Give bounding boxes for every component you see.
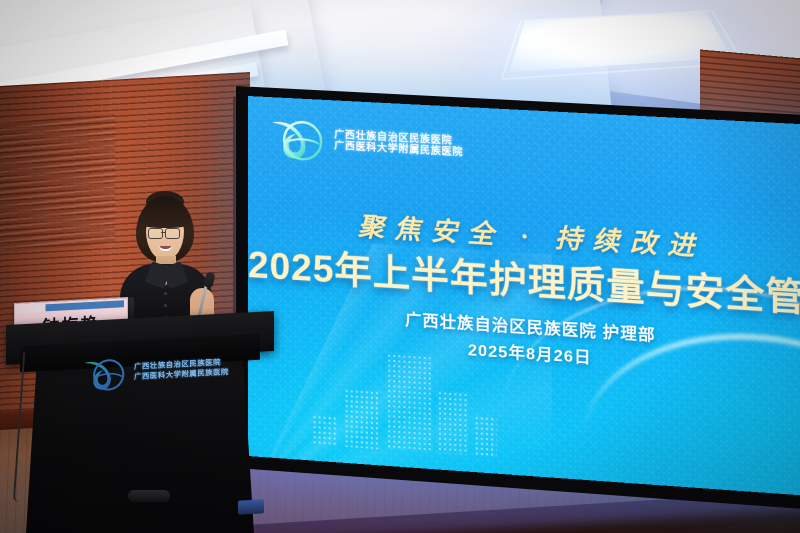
skyline-building bbox=[437, 391, 468, 456]
eyeglasses-bridge bbox=[161, 232, 166, 233]
skyline-building bbox=[344, 388, 378, 449]
podium-handle bbox=[128, 490, 170, 502]
led-screen[interactable]: 广西壮族自治区民族医院 广西医科大学附属民族医院 聚焦安全 · 持续改进 202… bbox=[248, 96, 800, 497]
hospital-leaf-logo bbox=[82, 353, 128, 393]
skyline-building bbox=[312, 414, 338, 446]
skyline-building bbox=[387, 353, 432, 453]
eyeglasses-icon bbox=[148, 228, 163, 239]
speaker-button-2 bbox=[164, 304, 167, 307]
podium-org-name: 广西壮族自治区民族医院 广西医科大学附属民族医院 bbox=[134, 357, 229, 382]
podium-hospital-logo: 广西壮族自治区民族医院 广西医科大学附属民族医院 bbox=[82, 348, 229, 394]
skyline-building bbox=[474, 415, 497, 457]
hospital-leaf-logo bbox=[270, 113, 326, 164]
screen-org-name: 广西壮族自治区民族医院 广西医科大学附属民族医院 bbox=[334, 129, 463, 158]
floor-power-box bbox=[238, 499, 264, 514]
conference-photo: 广西壮族自治区民族医院 广西医科大学附属民族医院 聚焦安全 · 持续改进 202… bbox=[0, 0, 800, 533]
speaker-button-1 bbox=[164, 292, 167, 295]
eyeglasses-icon-right bbox=[165, 228, 180, 239]
